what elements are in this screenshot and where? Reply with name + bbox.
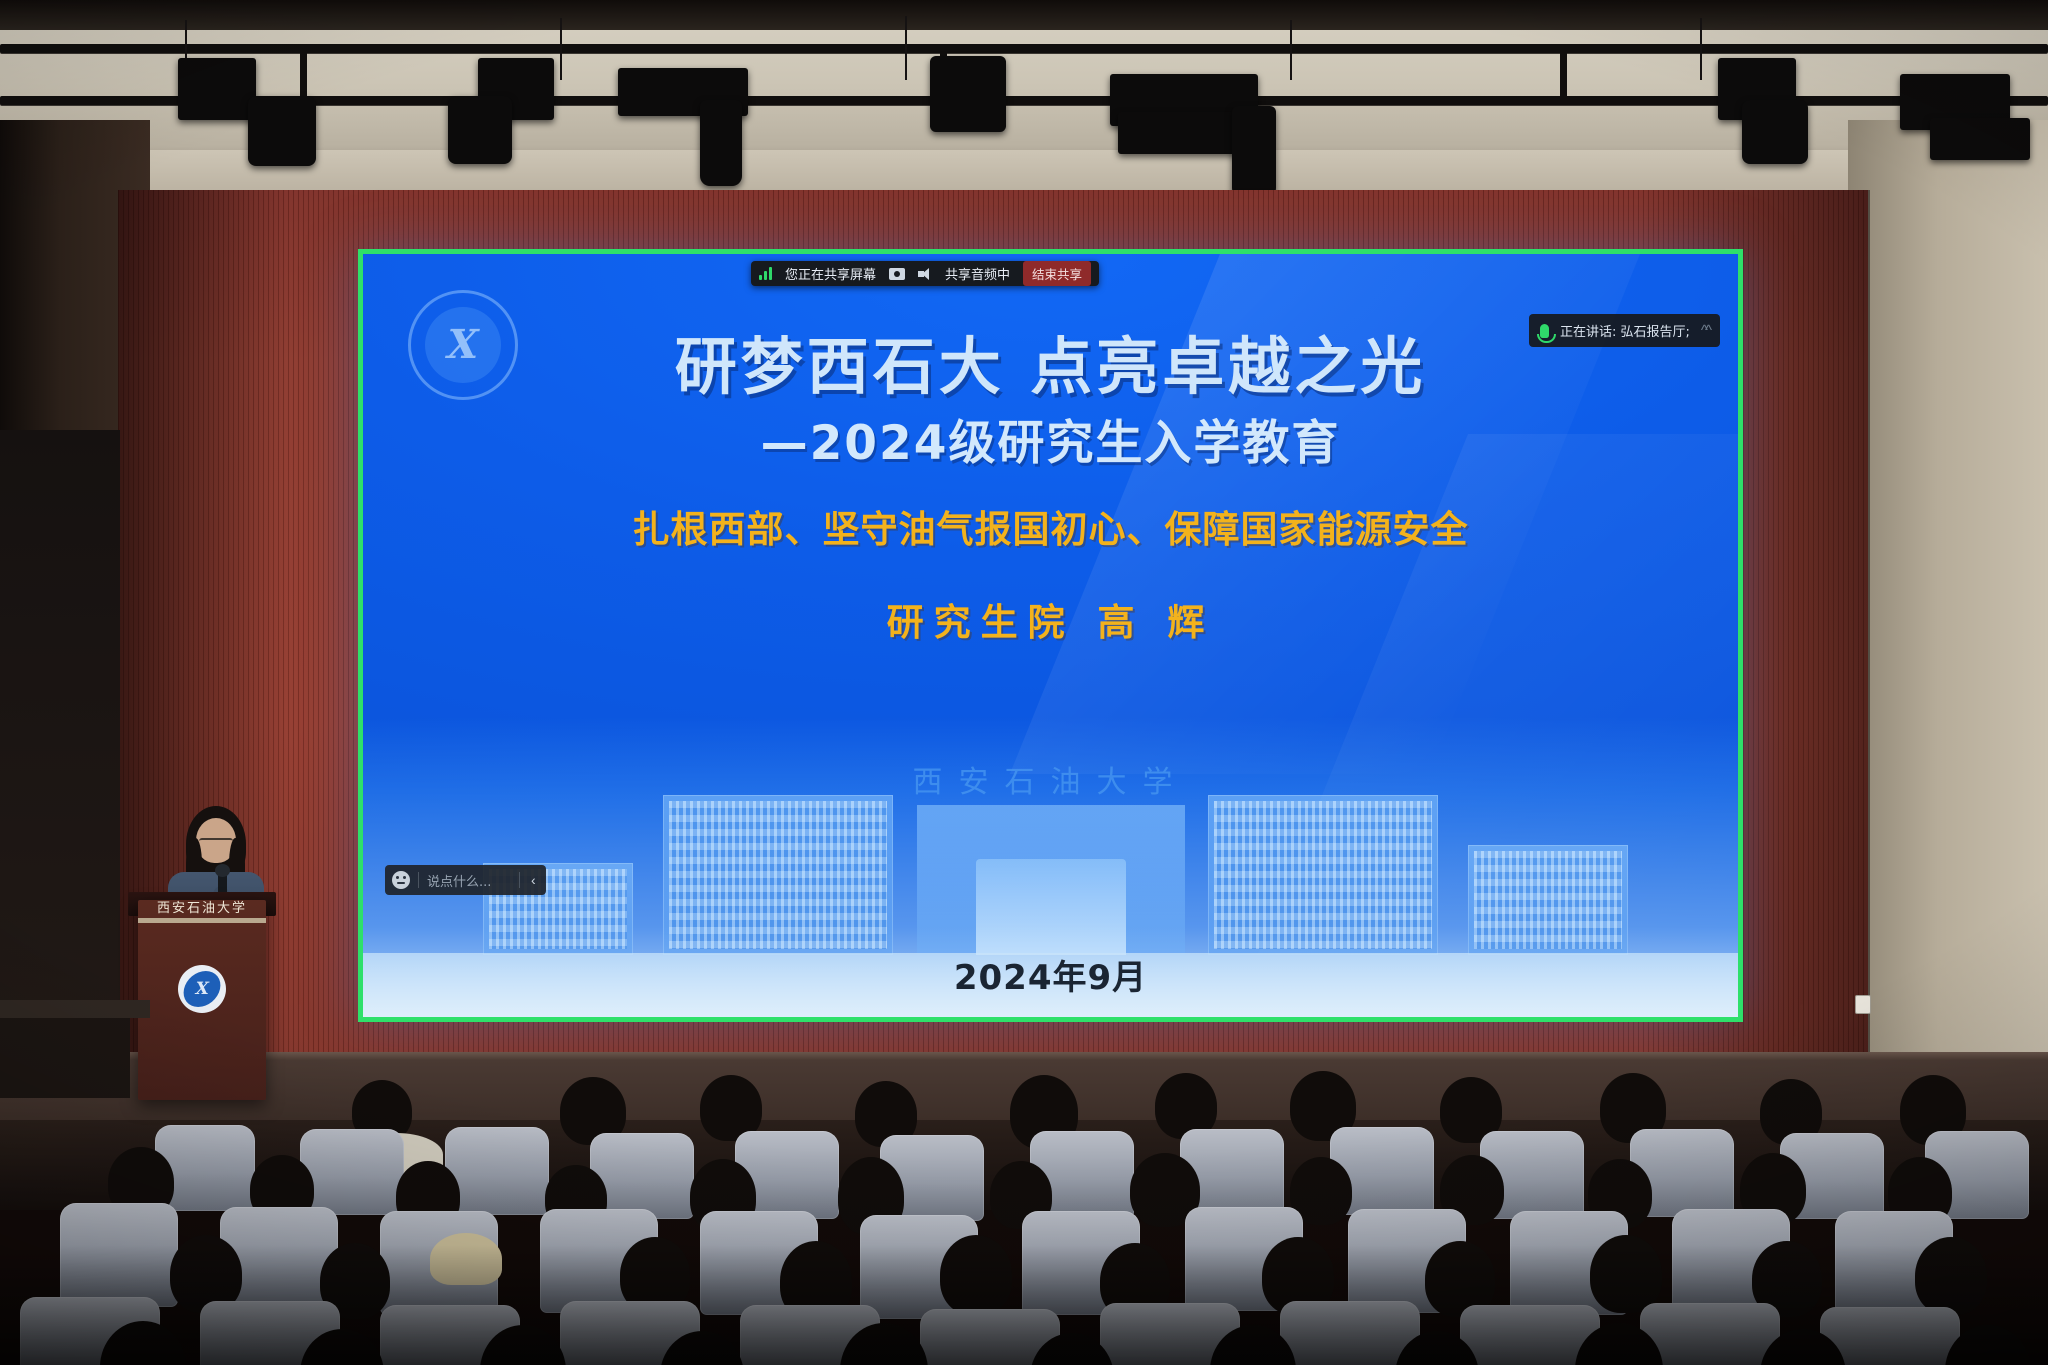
campus-building-left	[663, 795, 893, 955]
slide-presenter: 研究生院 高 辉	[363, 592, 1738, 646]
auditorium-seat	[300, 1129, 404, 1215]
stage-light-fixture	[178, 58, 256, 120]
active-speaker-label: 正在讲话: 弘石报告厅;	[1560, 321, 1690, 340]
camera-icon[interactable]	[889, 268, 905, 280]
stage-light-barrel	[700, 100, 742, 186]
auditorium-photo: 西安石油大学 Х 研梦西石大 点亮卓越之光 —2024级研究生入学教育 扎根西部…	[0, 0, 2048, 1365]
screen-share-toolbar[interactable]: 您正在共享屏幕 共享音频中 结束共享	[751, 261, 1099, 286]
signal-bars-icon	[759, 267, 772, 280]
end-share-button[interactable]: 结束共享	[1023, 261, 1091, 286]
chat-placeholder[interactable]: 说点什么...	[427, 871, 511, 890]
lamp-cable	[1700, 18, 1702, 80]
truss-post	[1560, 44, 1567, 96]
chat-collapse-button[interactable]: ‹	[528, 872, 539, 888]
slide-subtitle: —2024级研究生入学教育	[363, 404, 1738, 473]
foreground-shadow	[0, 1245, 2048, 1365]
campus-portico	[976, 859, 1126, 955]
stage-light-fixture	[248, 96, 316, 166]
stage-light-barrel	[1232, 106, 1276, 198]
podium-inscription: 西安石油大学	[138, 897, 266, 916]
stage-light-fixture	[1930, 118, 2030, 160]
emoji-face-icon[interactable]	[392, 871, 410, 889]
chat-input-bar[interactable]: 说点什么... ‹	[385, 865, 546, 895]
lamp-cable	[905, 16, 907, 80]
slide-date: 2024年9月	[363, 950, 1738, 999]
stage-light-fixture	[1118, 112, 1238, 154]
side-table	[0, 1000, 150, 1018]
speaker-icon[interactable]	[918, 268, 932, 280]
slide-tagline: 扎根西部、坚守油气报国初心、保障国家能源安全	[363, 499, 1738, 553]
campus-building-right	[1208, 795, 1438, 955]
audio-share-label: 共享音频中	[945, 264, 1010, 283]
lamp-cable	[560, 18, 562, 80]
podium-logo-mark: Х	[180, 971, 224, 1007]
campus-building-far-right	[1468, 845, 1628, 955]
lighting-truss-upper	[0, 44, 2048, 53]
sharing-status-label: 您正在共享屏幕	[785, 264, 876, 283]
stage-light-fixture	[448, 96, 512, 164]
presentation-slide: 西安石油大学 Х 研梦西石大 点亮卓越之光 —2024级研究生入学教育 扎根西部…	[363, 254, 1738, 1017]
stage-light-fixture	[1742, 100, 1808, 164]
stage-light-fixture	[930, 56, 1006, 132]
divider	[418, 872, 419, 888]
microphone-head	[215, 864, 230, 877]
ceiling-shadow-band	[0, 0, 2048, 30]
speaker-glasses	[199, 838, 233, 849]
campus-calligraphy: 西安石油大学	[913, 757, 1189, 801]
microphone-icon	[1540, 324, 1549, 338]
lamp-cable	[1290, 20, 1292, 80]
truss-post	[300, 44, 307, 96]
podium-trim	[138, 918, 266, 923]
podium-university-logo: Х	[178, 965, 226, 1013]
divider	[519, 872, 520, 888]
right-wall	[1848, 120, 2048, 1170]
active-speaker-chip[interactable]: 正在讲话: 弘石报告厅; ^^	[1529, 314, 1720, 347]
chevron-icon[interactable]: ^^	[1701, 322, 1709, 339]
wall-switch	[1855, 995, 1871, 1014]
auditorium-seat	[445, 1127, 549, 1215]
